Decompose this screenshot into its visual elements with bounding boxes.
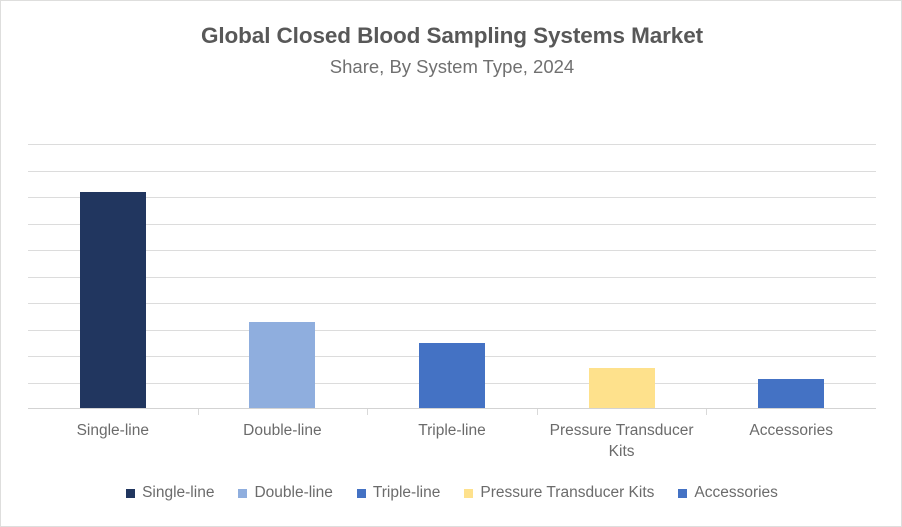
- bar-slot: [706, 144, 876, 409]
- bar[interactable]: [419, 343, 485, 409]
- x-axis-label: Triple-line: [367, 421, 537, 442]
- legend-swatch-icon: [464, 489, 473, 498]
- x-axis-label: Double-line: [198, 421, 368, 442]
- chart-title: Global Closed Blood Sampling Systems Mar…: [1, 23, 902, 49]
- chart-figure: Global Closed Blood Sampling Systems Mar…: [0, 0, 902, 527]
- legend-swatch-icon: [678, 489, 687, 498]
- bar[interactable]: [589, 368, 655, 409]
- axis-tick: [198, 409, 199, 415]
- axis-tick: [367, 409, 368, 415]
- bar-series: [28, 144, 876, 409]
- x-axis-ticks: [28, 409, 876, 415]
- axis-tick: [706, 409, 707, 415]
- axis-tick: [537, 409, 538, 415]
- legend-label: Double-line: [254, 484, 332, 502]
- bar-slot: [367, 144, 537, 409]
- legend-item[interactable]: Triple-line: [357, 484, 440, 502]
- bar[interactable]: [80, 192, 146, 409]
- x-axis-labels: Single-lineDouble-lineTriple-linePressur…: [28, 421, 876, 471]
- legend-label: Single-line: [142, 484, 214, 502]
- legend-item[interactable]: Double-line: [238, 484, 332, 502]
- chart-subtitle: Share, By System Type, 2024: [1, 56, 902, 77]
- bar-slot: [537, 144, 707, 409]
- legend-label: Triple-line: [373, 484, 440, 502]
- legend-item[interactable]: Single-line: [126, 484, 214, 502]
- legend-swatch-icon: [357, 489, 366, 498]
- bar-slot: [198, 144, 368, 409]
- legend-item[interactable]: Pressure Transducer Kits: [464, 484, 654, 502]
- legend-label: Accessories: [694, 484, 778, 502]
- title-block: Global Closed Blood Sampling Systems Mar…: [1, 23, 902, 77]
- x-axis-label: Pressure Transducer Kits: [537, 421, 707, 463]
- chart-legend: Single-lineDouble-lineTriple-linePressur…: [1, 484, 902, 502]
- x-axis-label: Accessories: [706, 421, 876, 442]
- bar[interactable]: [758, 379, 824, 409]
- legend-swatch-icon: [126, 489, 135, 498]
- bar[interactable]: [249, 322, 315, 409]
- legend-swatch-icon: [238, 489, 247, 498]
- bar-slot: [28, 144, 198, 409]
- legend-label: Pressure Transducer Kits: [480, 484, 654, 502]
- x-axis-label: Single-line: [28, 421, 198, 442]
- legend-item[interactable]: Accessories: [678, 484, 778, 502]
- plot-area: [28, 144, 876, 409]
